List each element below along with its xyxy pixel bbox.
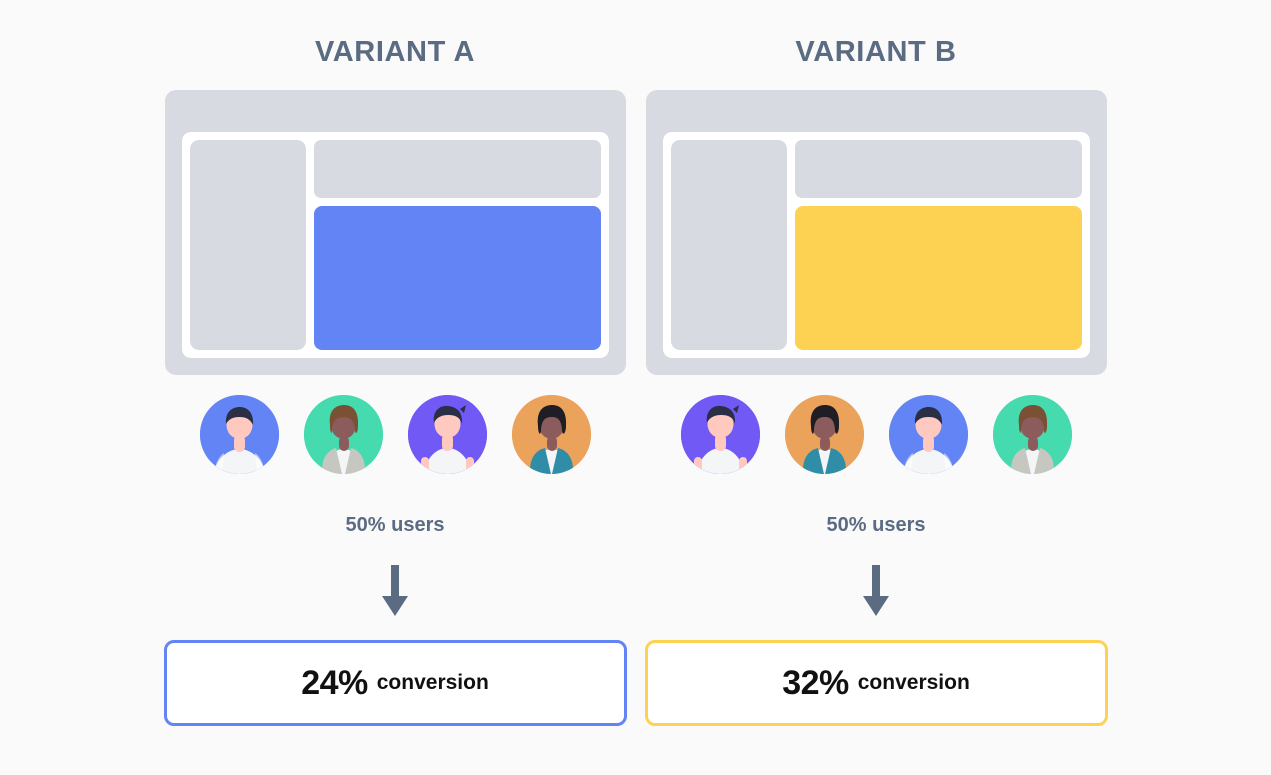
variant-b-title: VARIANT B: [795, 36, 956, 69]
avatar-male-tshirt: [681, 395, 760, 474]
variant-a-conversion-percent: 24%: [301, 664, 368, 703]
avatar-female-teal-blazer: [512, 395, 591, 474]
variant-a-conversion-word: conversion: [377, 671, 489, 695]
avatar-female-teal-blazer: [785, 395, 864, 474]
variant-a-column: VARIANT A: [164, 36, 627, 726]
variant-b-page-mockup: [646, 90, 1107, 375]
avatar-female-gray-blazer: [993, 395, 1072, 474]
mockup-content-area: [314, 140, 601, 350]
mockup-viewport: [663, 132, 1090, 358]
variant-b-user-avatars: [681, 395, 1072, 474]
mockup-sidebar-placeholder: [671, 140, 787, 350]
variant-b-users-split-label: 50% users: [827, 514, 926, 537]
variant-b-conversion-word: conversion: [858, 671, 970, 695]
variant-a-users-split-label: 50% users: [346, 514, 445, 537]
mockup-content-area: [795, 140, 1082, 350]
mockup-header-placeholder: [314, 140, 601, 198]
variant-a-user-avatars: [200, 395, 591, 474]
mockup-sidebar-placeholder: [190, 140, 306, 350]
down-arrow-icon: [861, 565, 891, 617]
variant-columns: VARIANT A: [164, 36, 1108, 726]
avatar-female-gray-blazer: [304, 395, 383, 474]
variant-b-column: VARIANT B: [645, 36, 1108, 726]
ab-test-comparison-diagram: VARIANT A: [0, 0, 1271, 775]
mockup-header-placeholder: [795, 140, 1082, 198]
down-arrow-icon: [380, 565, 410, 617]
avatar-male-white-shirt: [200, 395, 279, 474]
avatar-male-white-shirt: [889, 395, 968, 474]
mockup-viewport: [182, 132, 609, 358]
mockup-hero-block: [314, 206, 601, 350]
variant-b-conversion-result: 32%conversion: [645, 640, 1108, 726]
mockup-hero-block: [795, 206, 1082, 350]
variant-a-page-mockup: [165, 90, 626, 375]
variant-b-conversion-percent: 32%: [782, 664, 849, 703]
variant-a-title: VARIANT A: [315, 36, 475, 69]
variant-a-conversion-result: 24%conversion: [164, 640, 627, 726]
avatar-male-tshirt: [408, 395, 487, 474]
